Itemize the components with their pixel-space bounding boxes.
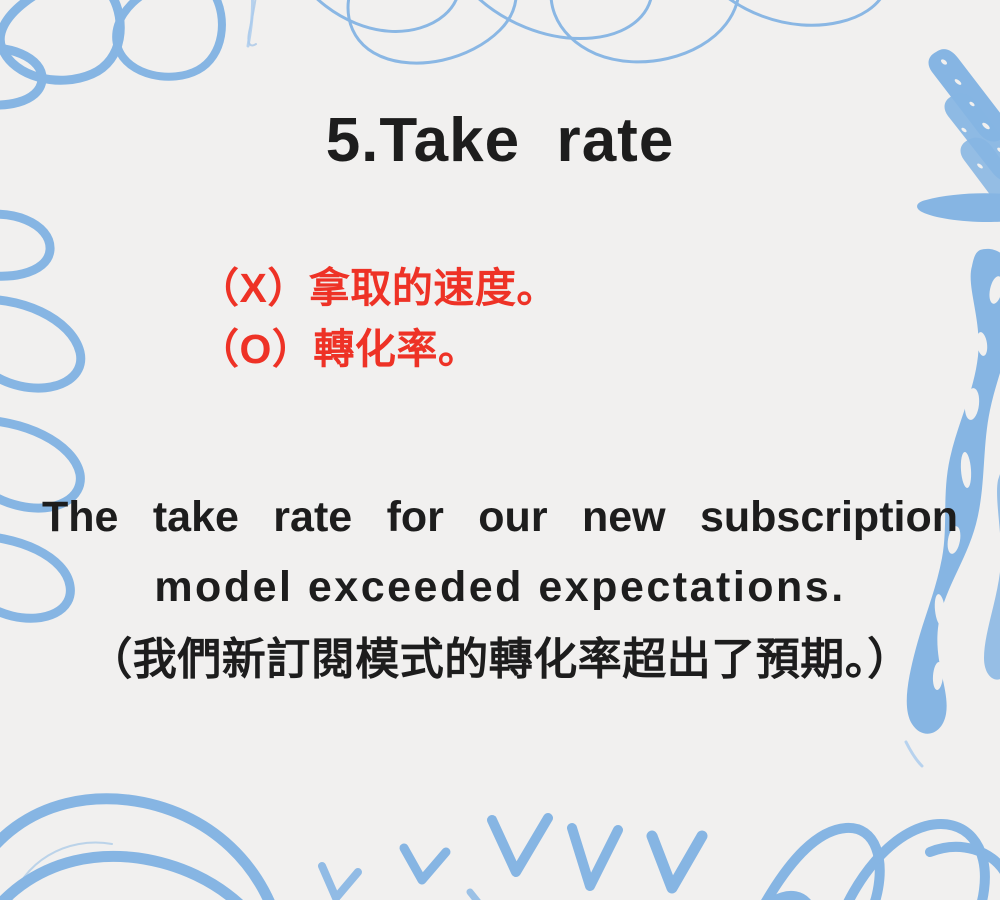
page-title: 5.Take rate — [0, 108, 1000, 173]
example-sentence-block: The take rate for our new subscription m… — [42, 483, 958, 696]
example-chinese-translation: （我們新訂閱模式的轉化率超出了預期。） — [42, 624, 958, 695]
wrong-meaning-label: （X）拿取的速度。 — [198, 258, 898, 319]
slide-content: 5.Take rate （X）拿取的速度。 （O）轉化率。 The take r… — [0, 0, 1000, 900]
example-english-line-2: model exceeded expectations. — [42, 553, 958, 623]
slide-canvas: 5.Take rate （X）拿取的速度。 （O）轉化率。 The take r… — [0, 0, 1000, 900]
wrong-right-block: （X）拿取的速度。 （O）轉化率。 — [198, 258, 898, 379]
correct-meaning-label: （O）轉化率。 — [198, 319, 898, 380]
example-english-line-1: The take rate for our new subscription — [42, 483, 958, 553]
